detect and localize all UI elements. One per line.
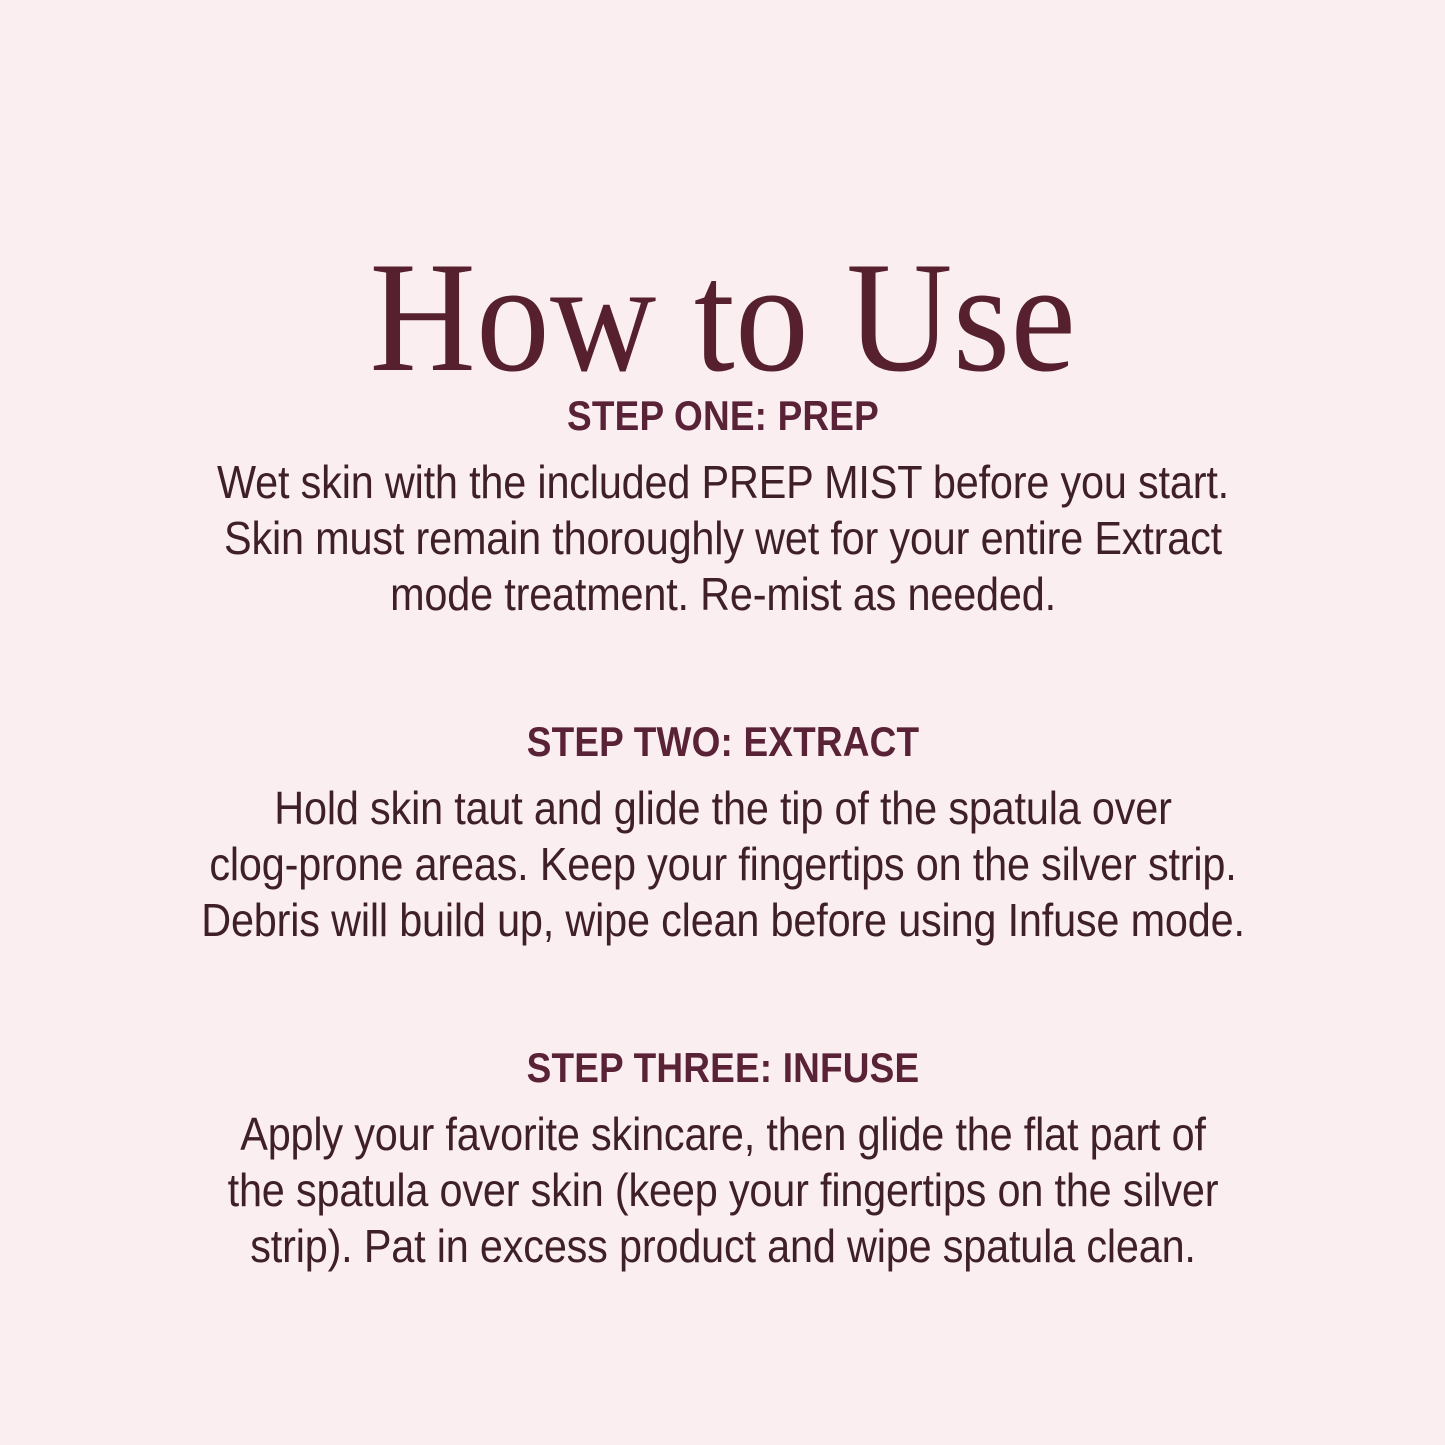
step-three-body-line-2: the spatula over skin (keep your fingert…	[201, 1162, 1245, 1218]
step-two-body-line-1: Hold skin taut and glide the tip of the …	[201, 780, 1245, 836]
how-to-use-panel: How to Use STEP ONE: PREP Wet skin with …	[0, 0, 1445, 1445]
step-two-body-line-3: Debris will build up, wipe clean before …	[201, 892, 1245, 948]
step-one-body-line-3: mode treatment. Re-mist as needed.	[201, 566, 1245, 622]
step-one-block: STEP ONE: PREP Wet skin with the include…	[143, 392, 1303, 622]
step-one-body: Wet skin with the included PREP MIST bef…	[201, 454, 1245, 622]
step-three-block: STEP THREE: INFUSE Apply your favorite s…	[143, 1044, 1303, 1274]
step-two-body-line-2: clog-prone areas. Keep your fingertips o…	[201, 836, 1245, 892]
step-three-body-line-3: strip). Pat in excess product and wipe s…	[201, 1218, 1245, 1274]
step-one-body-line-1: Wet skin with the included PREP MIST bef…	[201, 454, 1245, 510]
step-two-body: Hold skin taut and glide the tip of the …	[201, 780, 1245, 948]
page-title: How to Use	[369, 239, 1076, 397]
step-two-heading: STEP TWO: EXTRACT	[212, 718, 1233, 766]
step-one-body-line-2: Skin must remain thoroughly wet for your…	[201, 510, 1245, 566]
steps-list: STEP ONE: PREP Wet skin with the include…	[0, 392, 1445, 1274]
step-three-body: Apply your favorite skincare, then glide…	[201, 1106, 1245, 1274]
step-three-body-line-1: Apply your favorite skincare, then glide…	[201, 1106, 1245, 1162]
step-three-heading: STEP THREE: INFUSE	[212, 1044, 1233, 1092]
step-one-heading: STEP ONE: PREP	[212, 392, 1233, 440]
step-two-block: STEP TWO: EXTRACT Hold skin taut and gli…	[143, 718, 1303, 948]
